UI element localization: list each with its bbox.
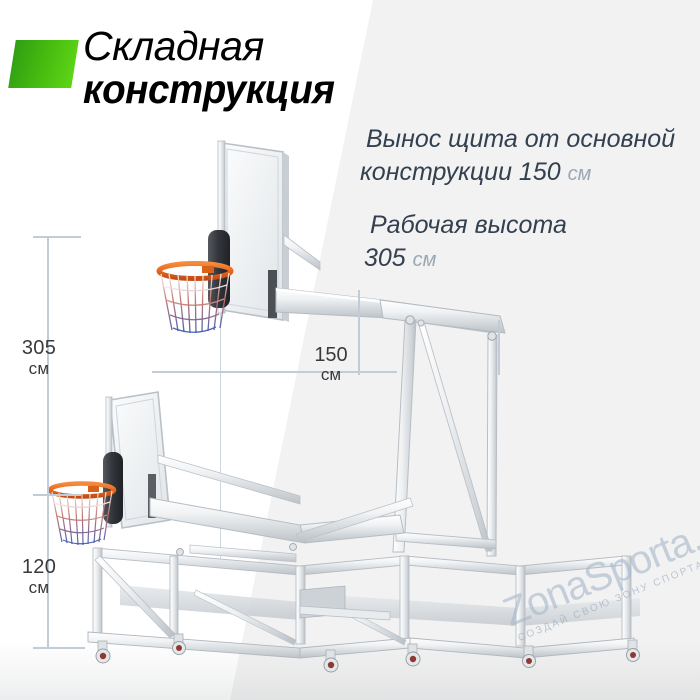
dimension-150-value: 150 [314, 344, 347, 366]
dimension-label-150: 150 см [300, 345, 362, 384]
tower-diagonal-brace [418, 322, 492, 551]
callout-height-line2: 305 см [364, 242, 567, 275]
upper-support-arm [284, 235, 320, 270]
tower-right-post [487, 335, 497, 556]
callout-height-line1: Рабочая высота [370, 209, 567, 242]
dimension-label-120: 120 см [8, 557, 70, 597]
screenshot-stage: Складная конструкция Вынос щита от основ… [0, 0, 700, 700]
title-line-1: Складная [83, 25, 351, 67]
callout-height-text: 305 [364, 244, 406, 272]
dimension-label-305: 305 см [8, 338, 70, 378]
dimension-150-unit: см [300, 366, 362, 384]
dimension-305-unit: см [8, 360, 70, 378]
horizontal-dimension-tick-right [498, 320, 500, 375]
callout-offset-line1: Вынос щита от основной [366, 123, 675, 156]
dimension-tick-bottom [33, 647, 85, 649]
callout-offset-line2: конструкции 150 см [360, 156, 675, 189]
dimension-305-value: 305 [22, 337, 56, 359]
callout-offset-text: конструкции 150 [360, 158, 561, 186]
dimension-tick-middle [33, 494, 81, 496]
dimension-tick-top [33, 236, 81, 238]
title-line-2: конструкция [83, 67, 335, 111]
page-title: Складная конструкция [83, 25, 351, 111]
callout-offset-unit: см [568, 163, 592, 185]
dimension-120-unit: см [8, 579, 70, 597]
base-frame [88, 548, 640, 672]
dimension-120-value: 120 [22, 556, 56, 578]
callout-working-height: Рабочая высота 305 см [370, 209, 567, 276]
lower-hoop-assembly [50, 392, 413, 562]
callout-board-offset: Вынос щита от основной конструкции 150 с… [366, 123, 675, 190]
callout-height-unit: см [413, 249, 437, 271]
accent-green-block [8, 40, 79, 88]
lower-main-boom [150, 498, 305, 543]
